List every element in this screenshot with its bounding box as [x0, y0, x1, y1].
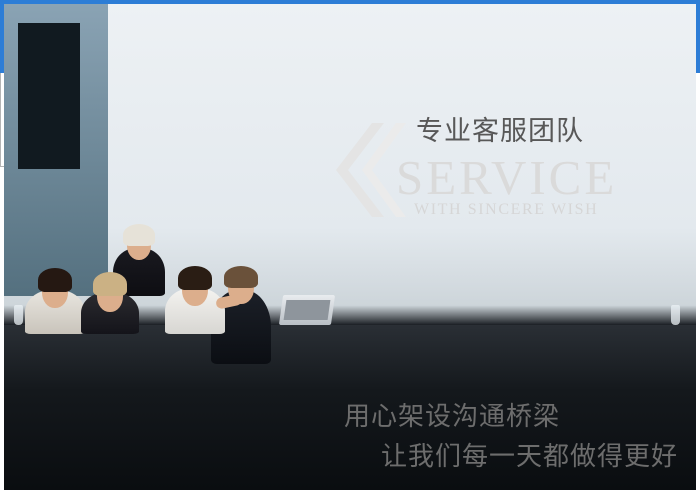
seated-figure-2	[80, 272, 140, 334]
person-hair	[93, 272, 127, 296]
service-heading-en: SERVICE	[396, 152, 617, 204]
water-glass	[671, 305, 680, 325]
slogan-line-1: 用心架设沟通桥梁	[344, 401, 560, 433]
wall-frame	[18, 23, 80, 169]
business-meeting-photo	[0, 0, 283, 167]
service-heading-cn: 专业客服团队	[416, 116, 584, 148]
person-hair	[38, 268, 72, 292]
water-glass	[14, 305, 23, 325]
person-hair	[178, 266, 212, 290]
after-sales-service-page: 售后服务 Fusce umber rem gloiat heaff sua ad…	[0, 0, 700, 494]
seated-figure-1	[24, 268, 86, 334]
service-tagline-en: WITH SINCERE WISH	[414, 201, 598, 219]
slogan-line-2: 让我们每一天都做得更好	[381, 441, 678, 473]
person-hair	[224, 266, 258, 288]
person-hair	[123, 224, 155, 246]
seated-figure-3	[164, 266, 226, 334]
laptop-shape	[279, 295, 335, 325]
